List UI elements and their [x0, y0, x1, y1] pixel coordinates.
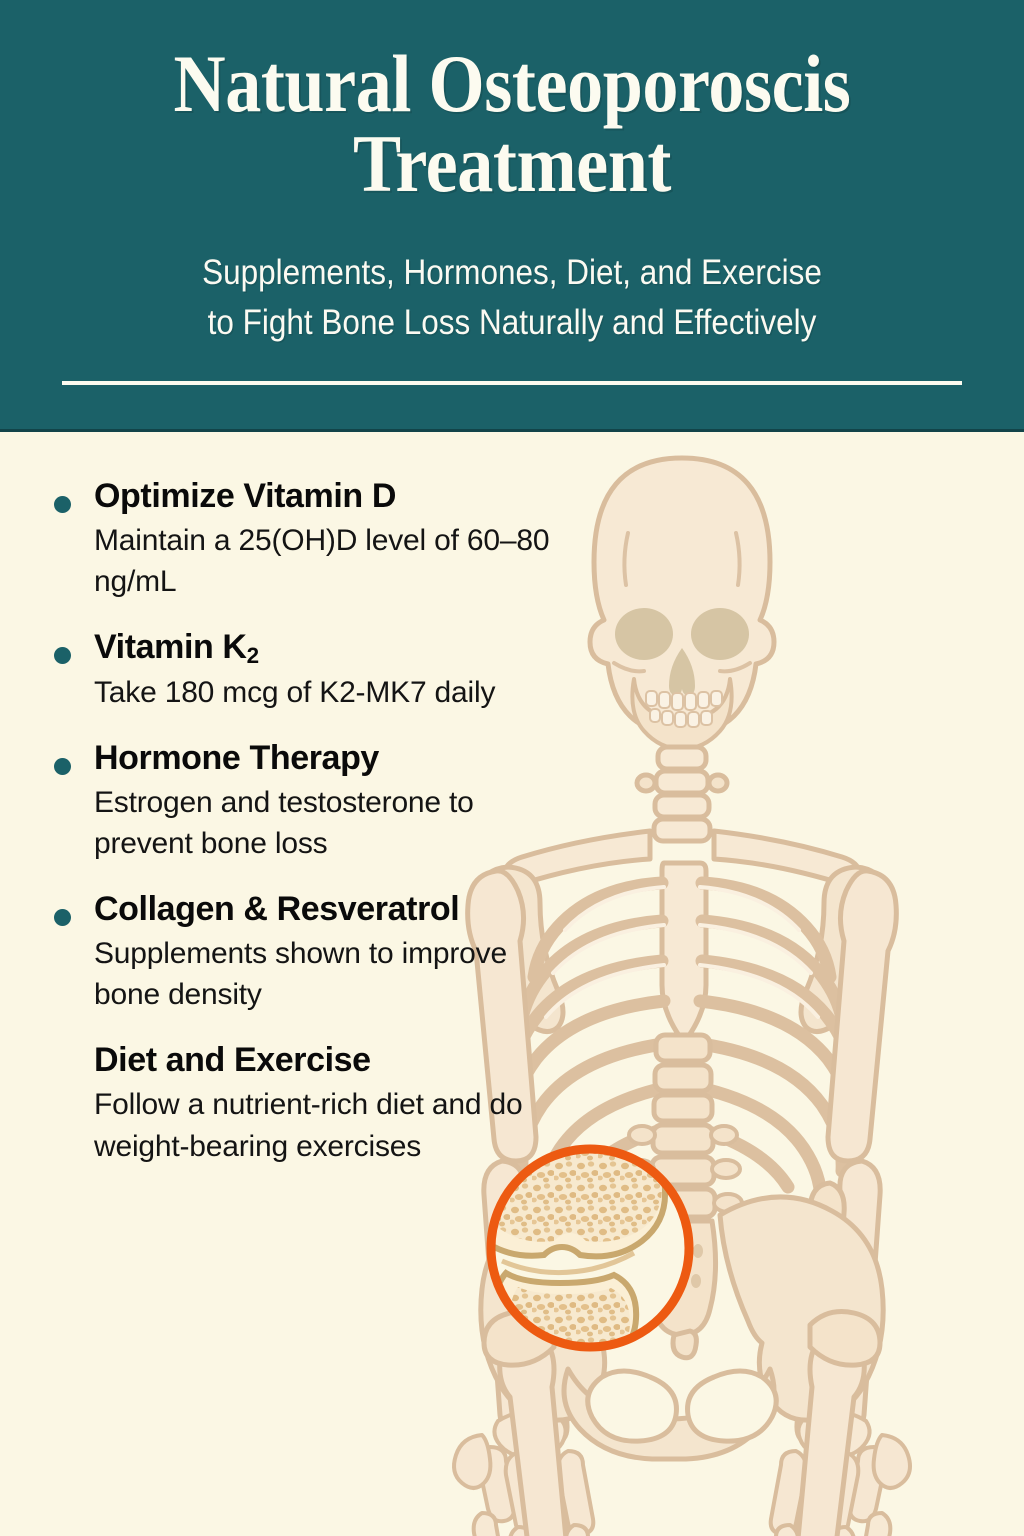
skull — [590, 458, 774, 749]
poster-header: Natural Osteoporoscis Treatment Suppleme… — [0, 0, 1024, 432]
cervical-spine — [637, 747, 727, 841]
poster-title: Natural Osteoporoscis Treatment — [61, 44, 962, 205]
list-item[interactable]: Optimize Vitamin D Maintain a 25(OH)D le… — [48, 475, 568, 602]
infographic-poster: Natural Osteoporoscis Treatment Suppleme… — [0, 0, 1024, 1536]
header-divider — [62, 381, 962, 385]
list-item-description: Estrogen and testosterone to prevent bon… — [94, 782, 564, 864]
femur-left — [500, 1331, 566, 1536]
lumbar-spine — [624, 1035, 742, 1217]
list-item-title: Diet and Exercise — [94, 1039, 568, 1081]
list-item[interactable]: Hormone Therapy Estrogen and testosteron… — [48, 737, 568, 864]
list-item-description: Take 180 mcg of K2-MK7 daily — [94, 672, 564, 713]
sternum — [662, 863, 706, 1040]
list-item-description: Supplements shown to improve bone densit… — [94, 933, 564, 1015]
list-item-title-subscript: 2 — [247, 643, 259, 668]
trochanters — [484, 1312, 880, 1366]
poster-subtitle: Supplements, Hormones, Diet, and Exercis… — [51, 248, 973, 347]
list-item[interactable]: Vitamin K2 Take 180 mcg of K2-MK7 daily — [48, 626, 568, 712]
poster-body: Optimize Vitamin D Maintain a 25(OH)D le… — [0, 435, 1024, 1536]
list-item-description: Follow a nutrient-rich diet and do weigh… — [94, 1084, 564, 1166]
hand-left — [454, 1411, 593, 1536]
bullet-icon — [54, 496, 71, 513]
rib-cage-highlights — [546, 887, 818, 1017]
list-item-title-main: Vitamin K — [94, 628, 247, 666]
bullet-icon — [54, 758, 71, 775]
list-item-title: Collagen & Resveratrol — [94, 888, 568, 930]
radius-ulna-left — [484, 1161, 567, 1443]
pelvis — [481, 1197, 883, 1459]
bullet-icon — [54, 909, 71, 926]
list-item-title: Hormone Therapy — [94, 737, 568, 779]
list-item-title: Vitamin K2 — [94, 626, 568, 668]
treatment-list: Optimize Vitamin D Maintain a 25(OH)D le… — [48, 475, 568, 1167]
femur-right — [798, 1331, 864, 1536]
list-item[interactable]: Diet and Exercise Follow a nutrient-rich… — [48, 1039, 568, 1166]
hand-right — [771, 1411, 910, 1536]
list-item-title: Optimize Vitamin D — [94, 475, 568, 517]
list-item[interactable]: Collagen & Resveratrol Supplements shown… — [48, 888, 568, 1015]
subtitle-line-1: Supplements, Hormones, Diet, and Exercis… — [51, 248, 973, 298]
humerus-right — [828, 871, 896, 1161]
list-item-description: Maintain a 25(OH)D level of 60–80 ng/mL — [94, 520, 564, 602]
sacrum — [648, 1221, 715, 1358]
radius-ulna-right — [797, 1161, 880, 1443]
subtitle-line-2: to Fight Bone Loss Naturally and Effecti… — [51, 298, 973, 348]
